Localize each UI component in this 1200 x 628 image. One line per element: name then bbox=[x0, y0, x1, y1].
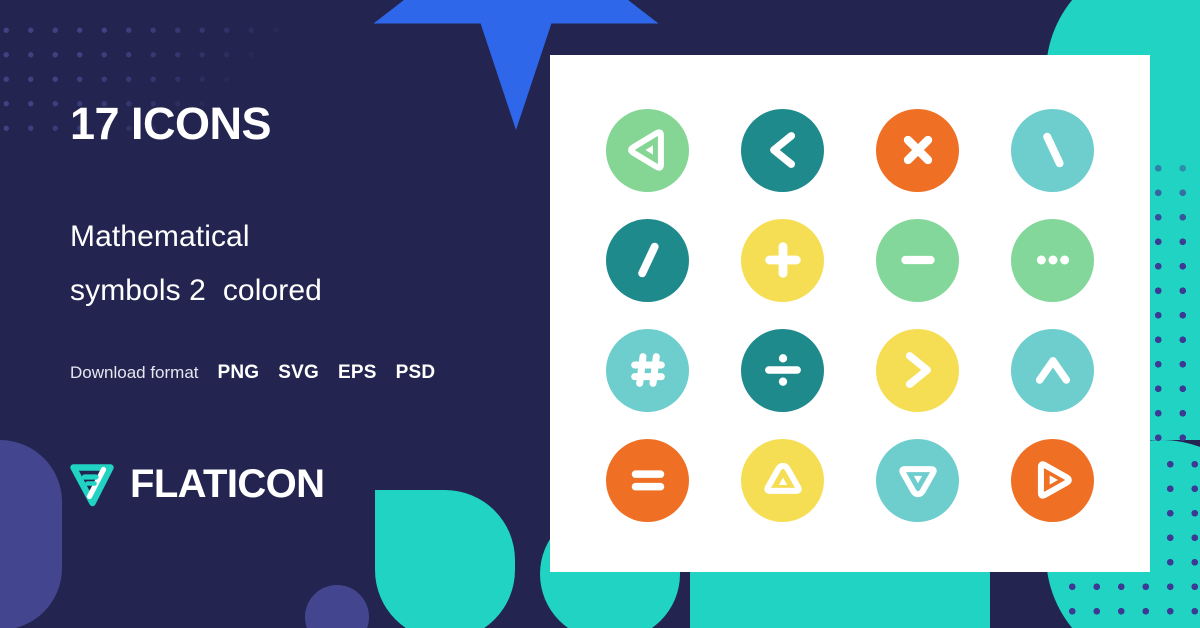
icon-cell[interactable] bbox=[715, 205, 850, 315]
icon-cell[interactable] bbox=[985, 315, 1120, 425]
page-title: 17 ICONS bbox=[70, 101, 271, 146]
backslash-icon bbox=[1011, 109, 1094, 192]
icon-cell[interactable] bbox=[850, 205, 985, 315]
format-png[interactable]: PNG bbox=[218, 362, 260, 384]
icon-cell[interactable] bbox=[715, 95, 850, 205]
triangle-down-outline-icon bbox=[876, 439, 959, 522]
icon-cell[interactable] bbox=[985, 205, 1120, 315]
brand-logo[interactable]: FLATICON bbox=[70, 462, 324, 507]
pack-subtitle-line-2: symbols 2 colored bbox=[70, 264, 322, 318]
icon-cell[interactable] bbox=[580, 425, 715, 535]
icon-cell[interactable] bbox=[850, 95, 985, 205]
download-formats: Download format PNG SVG EPS PSD bbox=[70, 362, 435, 384]
triangle-up-outline-icon bbox=[741, 439, 824, 522]
promo-banner: 17 ICONS Mathematical symbols 2 colored … bbox=[0, 0, 1200, 628]
icon-cell[interactable] bbox=[985, 425, 1120, 535]
greater-than-icon bbox=[876, 329, 959, 412]
icon-cell[interactable] bbox=[850, 315, 985, 425]
plus-icon bbox=[741, 219, 824, 302]
icon-cell[interactable] bbox=[580, 315, 715, 425]
format-svg[interactable]: SVG bbox=[278, 362, 319, 384]
less-than-icon bbox=[741, 109, 824, 192]
teal-band-bottom bbox=[690, 568, 990, 628]
minus-icon bbox=[876, 219, 959, 302]
teal-leaf-shape-bottom-center bbox=[375, 490, 515, 628]
multiply-cross-icon bbox=[876, 109, 959, 192]
caret-up-icon bbox=[1011, 329, 1094, 412]
format-eps[interactable]: EPS bbox=[338, 362, 377, 384]
purple-circle-left bbox=[0, 440, 62, 628]
icon-cell[interactable] bbox=[580, 95, 715, 205]
equals-icon bbox=[606, 439, 689, 522]
triangle-left-outline-icon bbox=[606, 109, 689, 192]
pack-subtitle: Mathematical symbols 2 colored bbox=[70, 210, 322, 318]
play-triangle-right-icon bbox=[1011, 439, 1094, 522]
icon-cell[interactable] bbox=[850, 425, 985, 535]
icon-preview-card bbox=[550, 55, 1150, 572]
ellipsis-icon bbox=[1011, 219, 1094, 302]
pack-subtitle-line-1: Mathematical bbox=[70, 210, 322, 264]
forward-slash-icon bbox=[606, 219, 689, 302]
icon-cell[interactable] bbox=[715, 425, 850, 535]
download-format-label: Download format bbox=[70, 363, 199, 383]
division-icon bbox=[741, 329, 824, 412]
format-psd[interactable]: PSD bbox=[396, 362, 436, 384]
purple-circle-bottom-center bbox=[305, 585, 369, 628]
dot-pattern-right bbox=[1146, 156, 1200, 456]
icon-cell[interactable] bbox=[580, 205, 715, 315]
flaticon-logo-icon bbox=[70, 463, 116, 507]
icon-grid bbox=[580, 95, 1120, 535]
hash-icon bbox=[606, 329, 689, 412]
icon-cell[interactable] bbox=[715, 315, 850, 425]
brand-name: FLATICON bbox=[130, 462, 324, 507]
icon-cell[interactable] bbox=[985, 95, 1120, 205]
